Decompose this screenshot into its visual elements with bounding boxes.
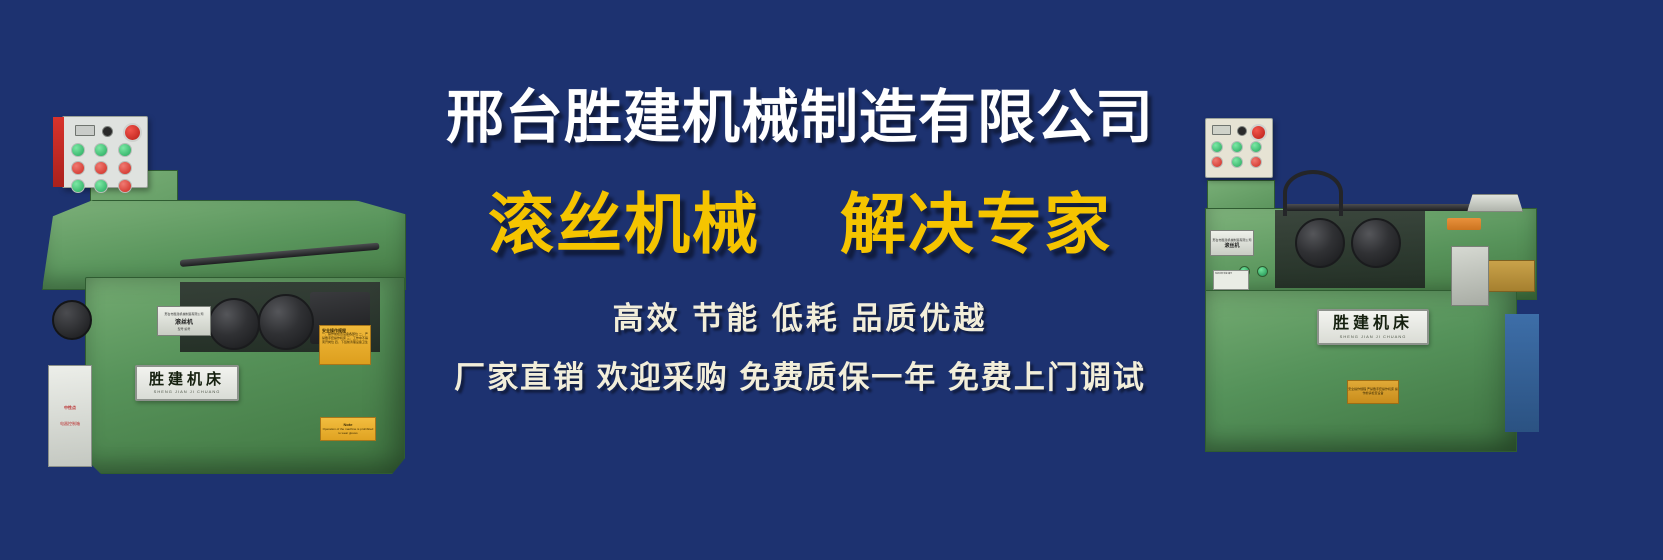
thread-roller-die-2 [1351,218,1401,268]
box-label-top: 中性点 [64,405,76,411]
slogan-right: 解决专家 [840,171,1112,267]
coolant-hose [1283,170,1343,216]
note-body: Operation of the machine is prohibited t… [321,428,375,435]
brand-nameplate: 胜建机床 SHENG JIAN JI CHUANG [1317,309,1429,345]
note-label: Note Operation of the machine is prohibi… [320,417,376,441]
valve-knob[interactable] [1257,266,1268,277]
emergency-stop-button[interactable] [1250,124,1267,141]
warning-body: 一、操作前检查设备各部位 二、严禁戴手套操作机床 三、工作中不得离开岗位 四、下… [322,333,368,344]
left-thread-rolling-machine: 邢台市胜建机械制造有限公司 滚丝机 型号 编号 安全操作规程 一、操作前检查设备… [30,92,420,482]
indicator-light[interactable] [1250,156,1262,168]
indicator-light[interactable] [118,179,132,193]
indicator-light[interactable] [1211,141,1223,153]
slogan-left: 滚丝机械 [488,171,760,267]
spec-model: 滚丝机 [175,317,193,326]
company-title: 邢台胜建机械制造有限公司 [400,88,1200,149]
machine-spec-plate: 邢台市胜建机械制造有限公司 滚丝机 [1210,230,1254,256]
ammeter-gauge-icon [75,125,95,136]
slogan-row: 滚丝机械 解决专家 [400,171,1200,267]
thread-roller-die-1 [208,298,260,350]
ammeter-gauge-icon [1212,125,1231,135]
panel-red-strip [53,117,64,187]
drive-pulley [52,300,92,340]
promo-banner: 邢台市胜建机械制造有限公司 滚丝机 型号 编号 安全操作规程 一、操作前检查设备… [0,0,1663,560]
nameplate-pinyin: SHENG JIAN JI CHUANG [1340,334,1407,339]
spec-company: 邢台市胜建机械制造有限公司 [164,312,203,316]
auxiliary-unit [1505,314,1539,432]
indicator-light[interactable] [1231,156,1243,168]
spec-fields: 型号 编号 [178,327,191,331]
indicator-light[interactable] [118,161,132,175]
safety-warning-label: 安全操作规程 一、操作前检查设备各部位 二、严禁戴手套操作机床 三、工作中不得离… [319,325,371,365]
safety-warning-label: 安全操作规程 严禁戴手套操作机床 操作前请检查设备 [1347,380,1399,404]
machine-spec-plate: 邢台市胜建机械制造有限公司 滚丝机 型号 编号 [157,306,211,336]
selector-knob-icon[interactable] [1237,126,1247,136]
banner-text-block: 邢台胜建机械制造有限公司 滚丝机械 解决专家 高效 节能 低耗 品质优越 厂家直… [400,88,1200,397]
indicator-button-grid[interactable] [71,143,137,193]
spec-table-plate: 电机功率 转速 编号 [1213,270,1249,290]
tailstock-block [1451,246,1489,306]
indicator-light[interactable] [71,143,85,157]
nameplate-chinese: 胜建机床 [149,372,225,387]
indicator-light[interactable] [71,179,85,193]
nameplate-chinese: 胜建机床 [1333,316,1413,332]
indicator-light[interactable] [94,179,108,193]
brand-nameplate: 胜建机床 SHENG JIAN JI CHUANG [135,365,239,401]
tail-fixture [1467,194,1523,212]
spec-model: 滚丝机 [1224,242,1239,249]
thread-roller-die-1 [1295,218,1345,268]
indicator-light[interactable] [1250,141,1262,153]
wire-connector-block [1447,218,1481,230]
services-line: 厂家直销 欢迎采购 免费质保一年 免费上门调试 [400,352,1200,397]
nameplate-pinyin: SHENG JIAN JI CHUANG [154,389,221,394]
right-thread-rolling-machine: 邢台市胜建机械制造有限公司 滚丝机 电机功率 转速 编号 安全操作规程 严禁戴手… [1175,118,1565,448]
indicator-button-grid[interactable] [1211,141,1267,168]
control-panel[interactable] [62,116,148,188]
indicator-light[interactable] [94,143,108,157]
thread-roller-die-2 [258,294,314,350]
indicator-light[interactable] [71,161,85,175]
emergency-stop-button[interactable] [123,123,142,142]
features-line: 高效 节能 低耗 品质优越 [400,293,1200,338]
indicator-light[interactable] [94,161,108,175]
electrical-control-box: 中性点 电器控制箱 [48,365,92,467]
box-label-bottom: 电器控制箱 [60,421,80,427]
selector-knob-icon[interactable] [102,126,113,137]
control-panel[interactable] [1205,118,1273,178]
indicator-light[interactable] [1211,156,1223,168]
indicator-light[interactable] [118,143,132,157]
indicator-light[interactable] [1231,141,1243,153]
